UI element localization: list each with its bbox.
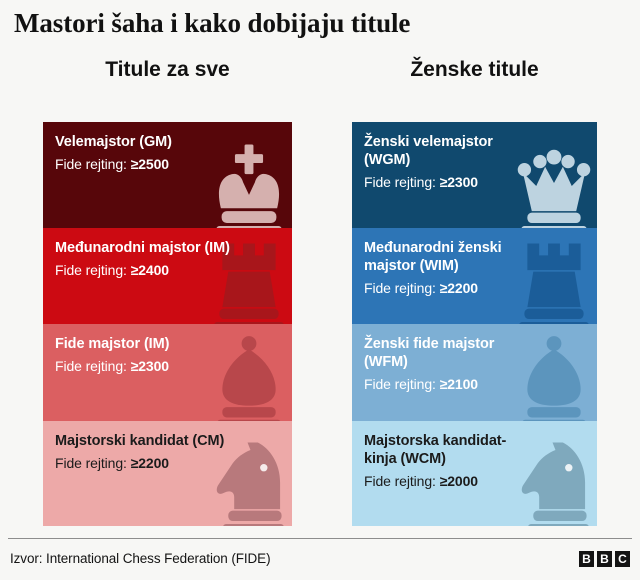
rating-label: Fide rejting:: [364, 174, 440, 190]
title-block: Ženski fide majstor (WFM) Fide rejting: …: [352, 324, 597, 421]
infographic-root: Mastori šaha i kako dobijaju titule Titu…: [0, 0, 640, 580]
title-block-name: Ženski fide majstor (WFM): [364, 335, 585, 371]
title-block: Međunarodni ženski majstor (WIM)Fide rej…: [352, 228, 597, 324]
title-block-rating: Fide rejting: ≥2100: [364, 376, 585, 394]
column-open-titles: Velemajstor (GM)Fide rejting: ≥2500 Među…: [43, 122, 292, 526]
page-title: Mastori šaha i kako dobijaju titule: [14, 8, 614, 39]
rating-value: ≥2500: [131, 156, 169, 172]
knight-icon: [212, 438, 286, 526]
title-block-name: Majstorska kandidat- kinja (WCM): [364, 432, 585, 468]
title-block-name: Majstorski kandidat (CM): [55, 432, 280, 450]
title-block: Ženski velemajstor (WGM)Fide rejting: ≥2…: [352, 122, 597, 228]
title-block-name: Međunarodni ženski majstor (WIM): [364, 239, 585, 275]
king-icon: [212, 140, 286, 228]
column-women-titles: Ženski velemajstor (WGM)Fide rejting: ≥2…: [352, 122, 597, 526]
rating-label: Fide rejting:: [55, 262, 131, 278]
title-block: Majstorska kandidat- kinja (WCM)Fide rej…: [352, 421, 597, 526]
rating-value: ≥2000: [440, 473, 478, 489]
rating-label: Fide rejting:: [364, 473, 440, 489]
title-block-rating: Fide rejting: ≥2200: [55, 455, 280, 473]
title-block-rating: Fide rejting: ≥2000: [364, 473, 585, 491]
rating-label: Fide rejting:: [55, 455, 131, 471]
title-block-rating: Fide rejting: ≥2500: [55, 156, 280, 174]
rating-label: Fide rejting:: [364, 376, 440, 392]
rating-value: ≥2200: [131, 455, 169, 471]
bbc-logo-letter: B: [597, 551, 612, 567]
source-note: Izvor: International Chess Federation (F…: [10, 551, 270, 566]
title-block: Velemajstor (GM)Fide rejting: ≥2500: [43, 122, 292, 228]
rating-label: Fide rejting:: [55, 156, 131, 172]
bbc-logo-letter: B: [579, 551, 594, 567]
title-block-name: Međunarodni majstor (IM): [55, 239, 280, 257]
column-heading-women: Ženske titule: [352, 58, 597, 82]
title-block: Međunarodni majstor (IM)Fide rejting: ≥2…: [43, 228, 292, 324]
title-block-rating: Fide rejting: ≥2300: [55, 358, 280, 376]
title-block-rating: Fide rejting: ≥2300: [364, 174, 585, 192]
title-block: Fide majstor (IM)Fide rejting: ≥2300: [43, 324, 292, 421]
title-block-name: Velemajstor (GM): [55, 133, 280, 151]
rating-value: ≥2200: [440, 280, 478, 296]
title-block-name: Fide majstor (IM): [55, 335, 280, 353]
rating-value: ≥2300: [440, 174, 478, 190]
bbc-logo: BBC: [579, 551, 630, 567]
title-block: Majstorski kandidat (CM)Fide rejting: ≥2…: [43, 421, 292, 526]
rating-value: ≥2100: [440, 376, 478, 392]
rating-label: Fide rejting:: [55, 358, 131, 374]
column-heading-open: Titule za sve: [43, 58, 292, 82]
title-block-name: Ženski velemajstor (WGM): [364, 133, 585, 169]
rating-value: ≥2300: [131, 358, 169, 374]
bbc-logo-letter: C: [615, 551, 630, 567]
title-block-rating: Fide rejting: ≥2200: [364, 280, 585, 298]
rating-value: ≥2400: [131, 262, 169, 278]
footer-divider: [8, 538, 632, 539]
title-block-rating: Fide rejting: ≥2400: [55, 262, 280, 280]
rating-label: Fide rejting:: [364, 280, 440, 296]
